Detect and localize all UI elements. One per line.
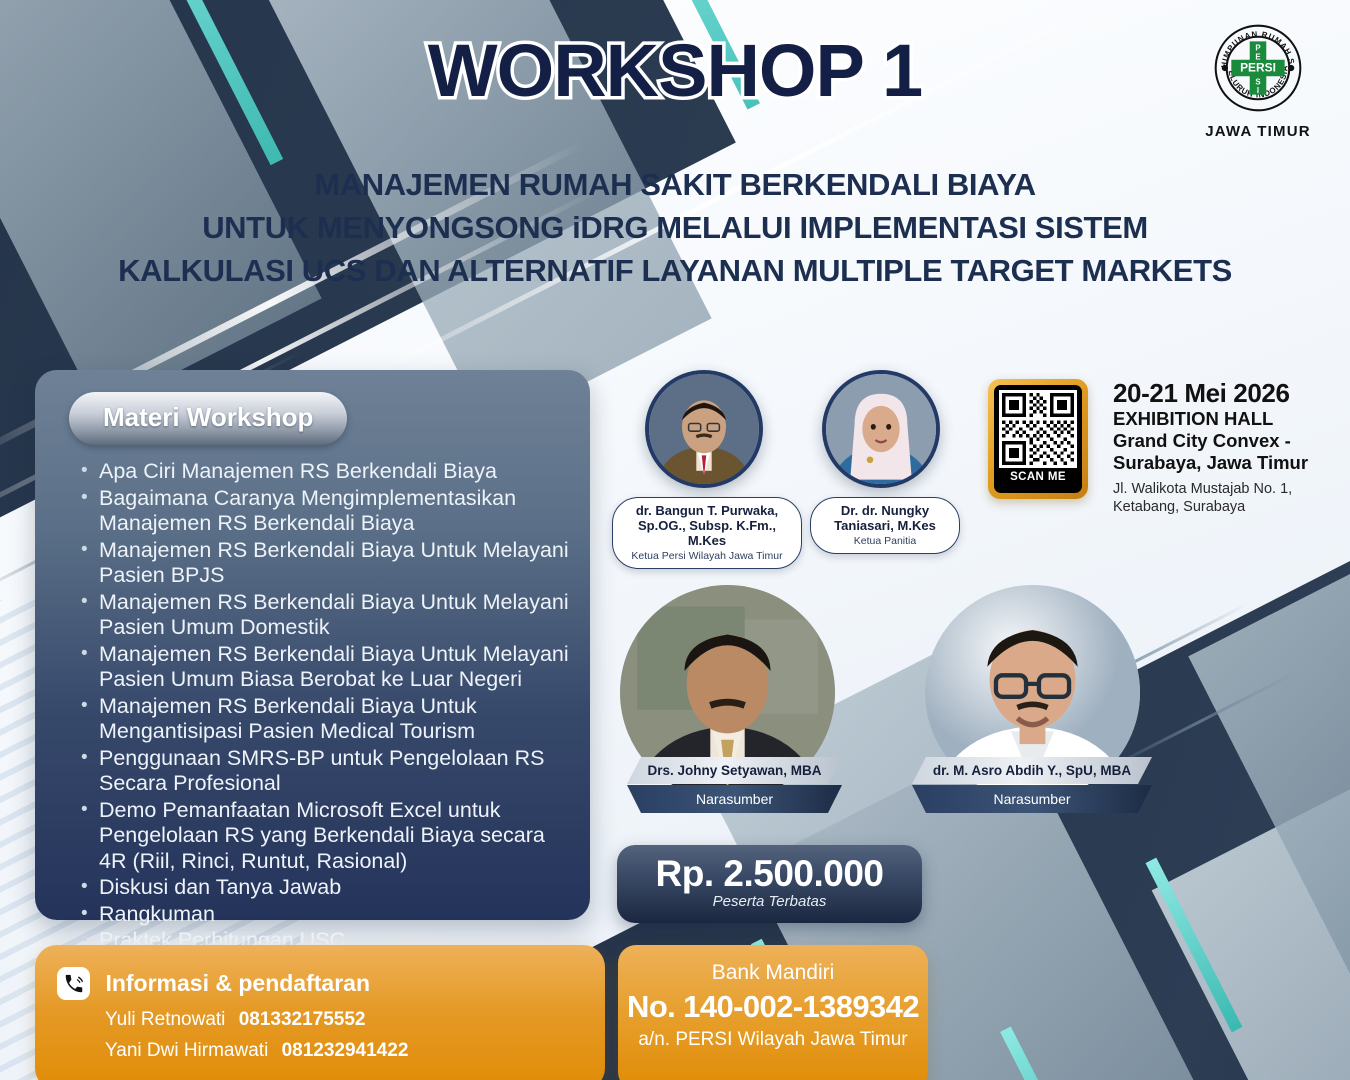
event-venue-line-1: Grand City Convex - [1113, 430, 1338, 452]
list-item: Manajemen RS Berkendali Biaya Untuk Mela… [81, 538, 570, 589]
speaker-nameplate-4: dr. M. Asro Abdih Y., SpU, MBA Narasumbe… [912, 757, 1152, 813]
event-address-line-2: Ketabang, Surabaya [1113, 498, 1338, 516]
speaker-name: dr. M. Asro Abdih Y., SpU, MBA [912, 757, 1152, 784]
contact-card: Informasi & pendaftaran Yuli Retnowati 0… [35, 945, 605, 1080]
event-address: Jl. Walikota Mustajab No. 1, Ketabang, S… [1113, 480, 1338, 516]
speaker-name: dr. Bangun T. Purwaka, Sp.OG., Subsp. K.… [621, 503, 793, 548]
subtitle-line-3: KALKULASI UCS DAN ALTERNATIF LAYANAN MUL… [0, 249, 1350, 292]
bank-account-holder: a/n. PERSI Wilayah Jawa Timur [618, 1029, 928, 1051]
svg-text:I: I [1257, 86, 1259, 95]
svg-text:E: E [1255, 53, 1260, 62]
svg-text:PERSI: PERSI [1240, 61, 1276, 75]
avatar-speaker-2 [822, 370, 940, 488]
list-item: Penggunaan SMRS-BP untuk Pengelolaan RS … [81, 746, 570, 797]
event-details: 20-21 Mei 2026 EXHIBITION HALL Grand Cit… [1113, 378, 1338, 516]
phone-icon [57, 967, 90, 1000]
contact-person-name: Yuli Retnowati [105, 1009, 225, 1030]
poster-title: WORKSHOP 1 [0, 28, 1350, 113]
list-item: Diskusi dan Tanya Jawab [81, 875, 570, 901]
list-item: Rangkuman [81, 902, 570, 928]
contact-person-2: Yani Dwi Hirmawati 081232941422 [105, 1040, 605, 1062]
price-note: Peserta Terbatas [617, 893, 922, 910]
speaker-role: Ketua Panitia [819, 535, 951, 547]
poster-canvas: WORKSHOP 1 MANAJEMEN RUMAH SAKIT BERKEND… [0, 0, 1350, 1080]
subtitle-line-1: MANAJEMEN RUMAH SAKIT BERKENDALI BIAYA [0, 163, 1350, 206]
qr-scan-label: SCAN ME [1010, 471, 1066, 483]
bank-name: Bank Mandiri [618, 961, 928, 985]
list-item: Demo Pemanfaatan Microsoft Excel untuk P… [81, 798, 570, 875]
list-item: Manajemen RS Berkendali Biaya Untuk Mela… [81, 590, 570, 641]
poster-subtitle: MANAJEMEN RUMAH SAKIT BERKENDALI BIAYA U… [0, 163, 1350, 292]
materi-workshop-panel: Materi Workshop Apa Ciri Manajemen RS Be… [35, 370, 590, 920]
svg-text:P: P [1255, 44, 1260, 53]
price-badge: Rp. 2.500.000 Peserta Terbatas [617, 845, 922, 923]
contact-person-phone[interactable]: 081232941422 [282, 1040, 409, 1061]
list-item: Manajemen RS Berkendali Biaya Untuk Meng… [81, 694, 570, 745]
materi-workshop-list: Apa Ciri Manajemen RS Berkendali Biaya B… [81, 459, 570, 954]
list-item: Manajemen RS Berkendali Biaya Untuk Mela… [81, 642, 570, 693]
list-item: Bagaimana Caranya Mengimplementasikan Ma… [81, 486, 570, 537]
qr-code-inner: SCAN ME [994, 385, 1082, 493]
event-date: 20-21 Mei 2026 [1113, 378, 1338, 408]
speaker-name: Dr. dr. Nungky Taniasari, M.Kes [819, 503, 951, 533]
qr-code-card[interactable]: SCAN ME [988, 379, 1088, 499]
bank-card: Bank Mandiri No. 140-002-1389342 a/n. PE… [618, 945, 928, 1080]
persi-logo-region: JAWA TIMUR [1198, 123, 1318, 140]
event-address-line-1: Jl. Walikota Mustajab No. 1, [1113, 480, 1338, 498]
persi-logo-icon: PERHIMPUNAN RUMAH SAKIT SELURUH INDONESI… [1212, 22, 1304, 114]
speaker-nameplate-1: dr. Bangun T. Purwaka, Sp.OG., Subsp. K.… [612, 497, 802, 569]
price-amount: Rp. 2.500.000 [617, 854, 922, 894]
persi-logo: PERHIMPUNAN RUMAH SAKIT SELURUH INDONESI… [1198, 22, 1318, 140]
avatar-speaker-1 [645, 370, 763, 488]
event-venue-line-2: Surabaya, Jawa Timur [1113, 452, 1338, 474]
speaker-nameplate-2: Dr. dr. Nungky Taniasari, M.Kes Ketua Pa… [810, 497, 960, 554]
subtitle-line-2: UNTUK MENYONGSONG iDRG MELALUI IMPLEMENT… [0, 206, 1350, 249]
contact-heading: Informasi & pendaftaran [105, 970, 370, 997]
contact-person-1: Yuli Retnowati 081332175552 [105, 1009, 605, 1031]
speaker-role: Narasumber [627, 785, 842, 813]
event-hall: EXHIBITION HALL [1113, 408, 1338, 430]
bank-account-number: No. 140-002-1389342 [618, 989, 928, 1025]
speaker-role: Ketua Persi Wilayah Jawa Timur [621, 550, 793, 562]
speaker-role: Narasumber [912, 785, 1152, 813]
speaker-name: Drs. Johny Setyawan, MBA [627, 757, 842, 784]
contact-person-phone[interactable]: 081332175552 [239, 1009, 366, 1030]
contact-person-name: Yani Dwi Hirmawati [105, 1040, 268, 1061]
list-item: Apa Ciri Manajemen RS Berkendali Biaya [81, 459, 570, 485]
speaker-nameplate-3: Drs. Johny Setyawan, MBA Narasumber [627, 757, 842, 813]
materi-workshop-heading: Materi Workshop [69, 392, 347, 445]
qr-code-image [999, 390, 1077, 468]
